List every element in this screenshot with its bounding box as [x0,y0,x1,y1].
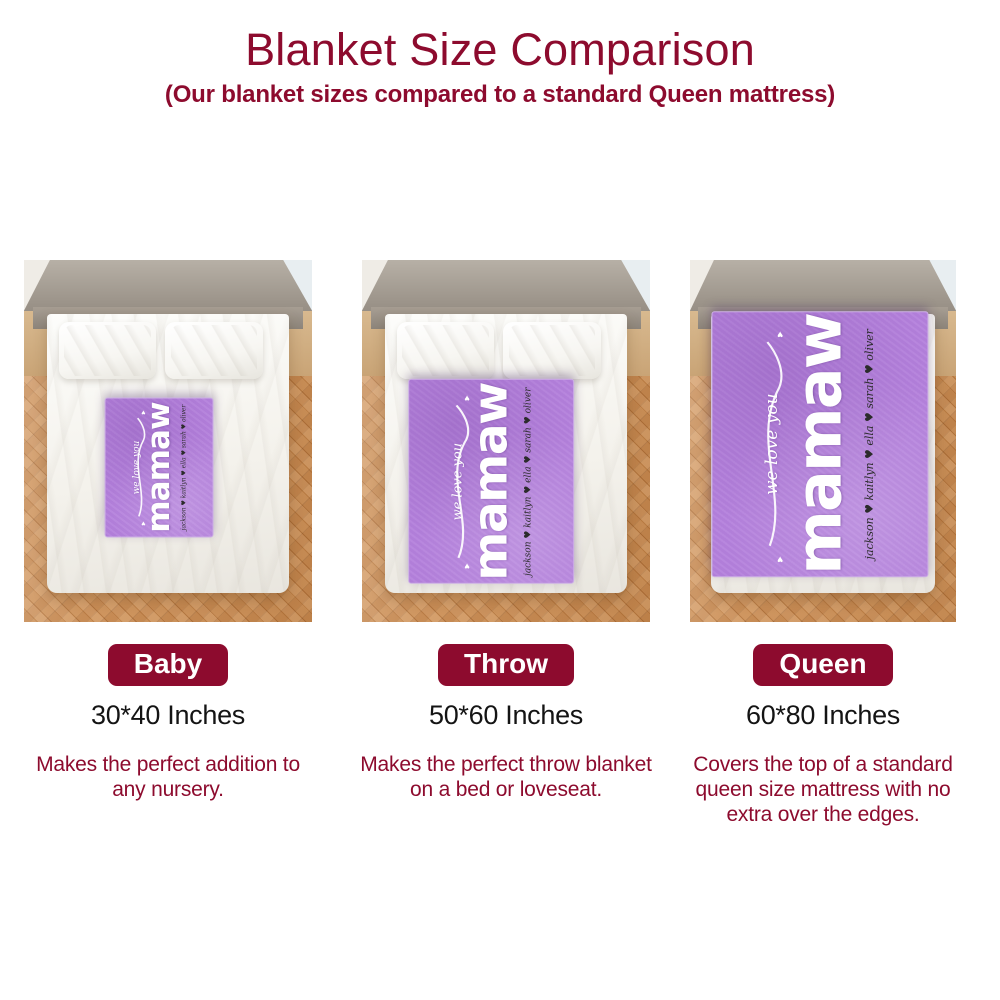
bedroom-scene: mamaw jackson ♥ kaitlyn ♥ ella ♥ sarah ♥… [24,260,312,622]
bed-photo-baby: mamaw jackson ♥ kaitlyn ♥ ella ♥ sarah ♥… [24,260,312,622]
blanket-print: mamaw jackson ♥ kaitlyn ♥ ella ♥ sarah ♥… [106,399,213,537]
size-dimensions-throw: 50*60 Inches [362,700,650,731]
heart-icon-bottom: ♥ [141,408,145,415]
page-header: Blanket Size Comparison (Our blanket siz… [0,0,1000,109]
bed-photo-throw: mamaw jackson ♥ kaitlyn ♥ ella ♥ sarah ♥… [362,260,650,622]
blanket-print: mamaw jackson ♥ kaitlyn ♥ ella ♥ sarah ♥… [712,312,927,576]
blanket-names: jackson ♥ kaitlyn ♥ ella ♥ sarah ♥ olive… [181,404,187,530]
heart-icon-bottom: ♥ [777,328,783,338]
bedroom-scene: mamaw jackson ♥ kaitlyn ♥ ella ♥ sarah ♥… [362,260,650,622]
size-description-throw: Makes the perfect throw blanket on a bed… [356,753,656,803]
size-column-throw: mamaw jackson ♥ kaitlyn ♥ ella ♥ sarah ♥… [362,260,650,803]
size-column-queen: mamaw jackson ♥ kaitlyn ♥ ella ♥ sarah ♥… [690,260,956,828]
blanket-swoosh-icon [127,415,150,520]
blanket-swoosh-icon [439,401,478,563]
blanket-swoosh-icon [747,335,794,552]
pillow-right [165,322,263,380]
size-dimensions-baby: 30*40 Inches [24,700,312,731]
heart-icon-top: ♥ [777,553,783,563]
bedroom-scene: mamaw jackson ♥ kaitlyn ♥ ella ♥ sarah ♥… [690,260,956,622]
size-badge-queen: Queen [753,644,892,686]
heart-icon-bottom: ♥ [464,394,469,403]
size-badge-baby: Baby [108,644,228,686]
blanket-names: jackson ♥ kaitlyn ♥ ella ♥ sarah ♥ olive… [525,388,534,577]
size-description-baby: Makes the perfect addition to any nurser… [18,753,318,803]
size-description-queen: Covers the top of a standard queen size … [678,753,968,827]
blanket-queen: mamaw jackson ♥ kaitlyn ♥ ella ♥ sarah ♥… [711,311,928,577]
pillow-left [59,322,157,380]
blanket-names: jackson ♥ kaitlyn ♥ ella ♥ sarah ♥ olive… [865,329,876,559]
pillow-left [397,322,495,380]
pillow-right [503,322,601,380]
blanket-print: mamaw jackson ♥ kaitlyn ♥ ella ♥ sarah ♥… [409,380,573,583]
bed-photo-queen: mamaw jackson ♥ kaitlyn ♥ ella ♥ sarah ♥… [690,260,956,622]
heart-icon-top: ♥ [464,562,469,571]
page-subtitle: (Our blanket sizes compared to a standar… [0,81,1000,109]
blanket-word: mamaw [789,313,851,574]
size-badge-throw: Throw [438,644,574,686]
page-title: Blanket Size Comparison [0,26,1000,73]
size-column-baby: mamaw jackson ♥ kaitlyn ♥ ella ♥ sarah ♥… [24,260,312,803]
blanket-throw: mamaw jackson ♥ kaitlyn ♥ ella ♥ sarah ♥… [408,379,574,584]
heart-icon-top: ♥ [141,519,145,526]
blanket-baby: mamaw jackson ♥ kaitlyn ♥ ella ♥ sarah ♥… [105,398,214,538]
size-dimensions-queen: 60*80 Inches [690,700,956,731]
